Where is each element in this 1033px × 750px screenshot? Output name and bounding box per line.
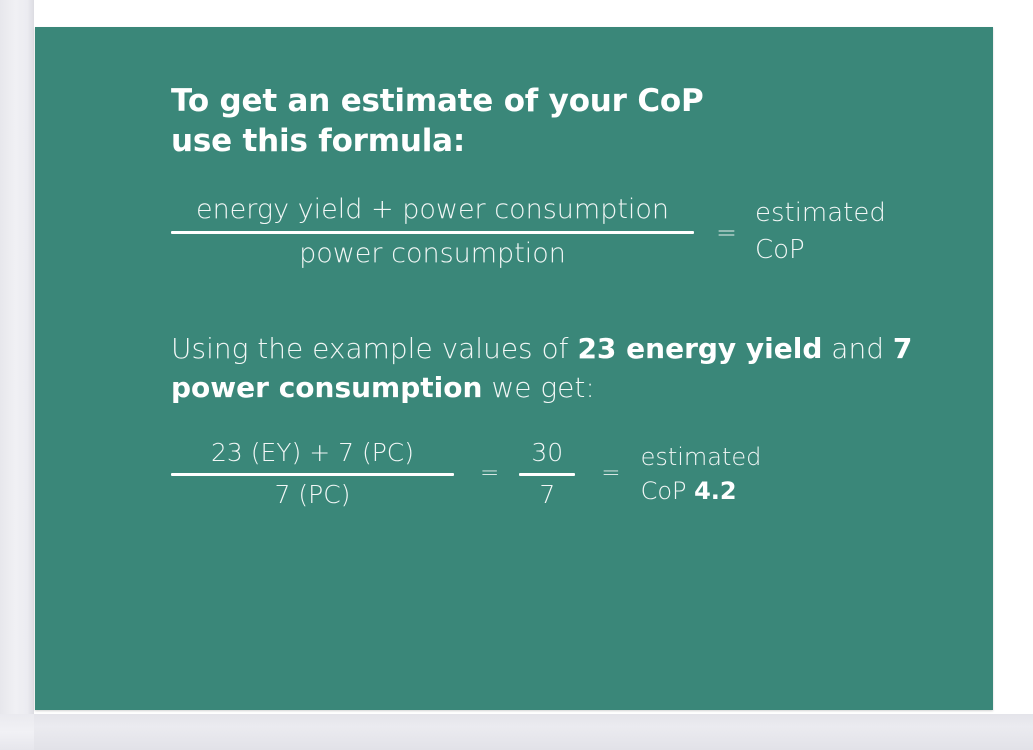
formula-example-simplified-numerator: 30 — [519, 440, 575, 466]
example-text-part-3: we get: — [482, 371, 594, 404]
formula-primary-denominator: power consumption — [171, 240, 694, 268]
formula-example-result-line-1: estimated — [641, 440, 762, 474]
formula-example-result-prefix: CoP — [641, 477, 695, 505]
formula-primary-fraction: energy yield + power consumption power c… — [171, 196, 694, 269]
formula-example-numerator: 23 (EY) + 7 (PC) — [171, 440, 454, 466]
formula-example-equals-sign-second: = — [601, 462, 620, 485]
formula-example-equals-sign-first: = — [480, 462, 499, 485]
formula-example-fraction-bar — [171, 473, 454, 476]
formula-primary-result: estimated CoP — [755, 195, 886, 269]
formula-example-denominator: 7 (PC) — [171, 482, 454, 508]
formula-primary-equals-sign: = — [716, 220, 737, 245]
formula-example-simplified-denominator: 7 — [519, 482, 575, 508]
example-sentence: Using the example values of 23 energy yi… — [171, 329, 916, 407]
card-content: To get an estimate of your CoP use this … — [171, 82, 963, 508]
formula-example: 23 (EY) + 7 (PC) 7 (PC) = 30 7 = estimat… — [171, 440, 963, 509]
formula-example-result-line-2: CoP 4.2 — [641, 474, 762, 508]
example-value-energy-yield: 23 energy yield — [577, 332, 822, 365]
card-heading-line-1: To get an estimate of your CoP — [171, 82, 731, 122]
formula-example-simplified-fraction-bar — [519, 473, 575, 476]
formula-example-result-value: 4.2 — [694, 477, 737, 505]
page-gutter-left — [0, 0, 34, 750]
formula-example-result: estimated CoP 4.2 — [641, 440, 762, 508]
card-heading: To get an estimate of your CoP use this … — [171, 82, 731, 161]
formula-primary-fraction-bar — [171, 231, 694, 234]
cop-formula-card: To get an estimate of your CoP use this … — [35, 27, 993, 710]
formula-primary-numerator: energy yield + power consumption — [171, 196, 694, 224]
formula-primary-result-line-1: estimated — [755, 195, 886, 232]
example-text-part-2: and — [822, 332, 892, 365]
card-heading-line-2: use this formula: — [171, 122, 731, 162]
formula-primary-result-line-2: CoP — [755, 232, 886, 269]
formula-primary: energy yield + power consumption power c… — [171, 195, 963, 269]
page-gutter-bottom — [0, 714, 1033, 750]
formula-example-simplified-fraction: 30 7 — [519, 440, 575, 509]
formula-example-fraction: 23 (EY) + 7 (PC) 7 (PC) — [171, 440, 454, 509]
page-root: To get an estimate of your CoP use this … — [0, 0, 1033, 750]
example-text-part-1: Using the example values of — [171, 332, 577, 365]
page-gutter-corner — [0, 714, 34, 750]
